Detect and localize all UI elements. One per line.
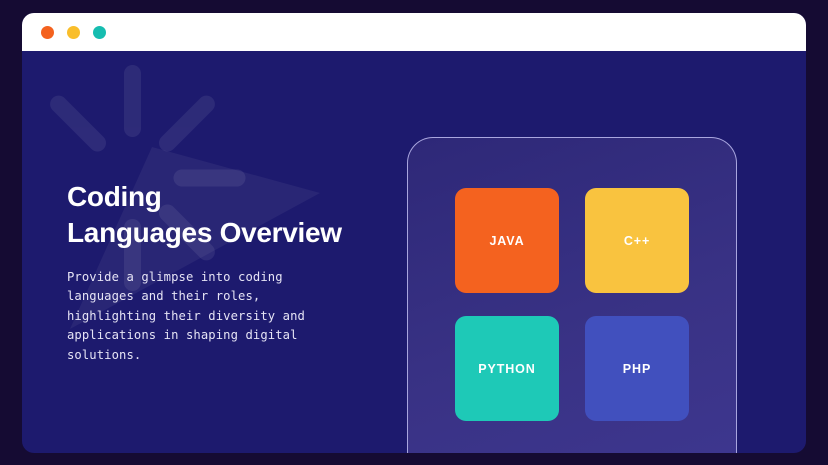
language-card-label: PYTHON — [478, 362, 536, 376]
language-card-java[interactable]: JAVA — [455, 188, 559, 293]
language-card-php[interactable]: PHP — [585, 316, 689, 421]
language-cards-panel: JAVA C++ PYTHON PHP — [407, 137, 737, 453]
close-dot-icon[interactable] — [41, 26, 54, 39]
language-card-python[interactable]: PYTHON — [455, 316, 559, 421]
language-card-label: C++ — [624, 234, 650, 248]
language-cards-grid: JAVA C++ PYTHON PHP — [455, 188, 689, 421]
minimize-dot-icon[interactable] — [67, 26, 80, 39]
page-subtitle: Provide a glimpse into coding languages … — [67, 268, 397, 366]
slide-canvas: Coding Languages Overview Provide a glim… — [22, 51, 806, 453]
browser-window: Coding Languages Overview Provide a glim… — [22, 13, 806, 453]
page-title: Coding Languages Overview — [67, 179, 397, 251]
language-card-cpp[interactable]: C++ — [585, 188, 689, 293]
maximize-dot-icon[interactable] — [93, 26, 106, 39]
language-card-label: PHP — [623, 362, 651, 376]
browser-titlebar — [22, 13, 806, 51]
slide-text-column: Coding Languages Overview Provide a glim… — [67, 179, 397, 365]
language-card-label: JAVA — [489, 234, 524, 248]
